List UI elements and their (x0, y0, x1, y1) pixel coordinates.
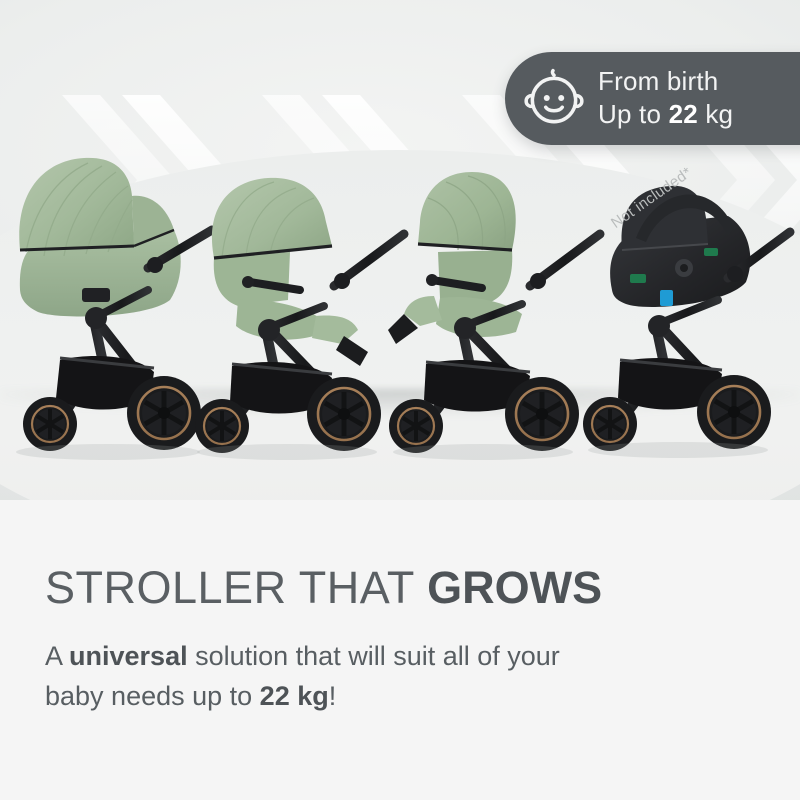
wheel-front (23, 397, 77, 451)
body-part-3: baby needs up to (45, 681, 260, 711)
wheel-rear (307, 377, 381, 451)
badge-line-2: Up to 22 kg (598, 98, 733, 131)
badge-text: From birth Up to 22 kg (598, 65, 733, 133)
page-title: STROLLER THAT GROWS (45, 562, 602, 614)
headline-light: STROLLER THAT (45, 562, 427, 613)
product-carrycot (0, 0, 218, 470)
product-seat-rear-facing (192, 0, 412, 470)
wheel-rear (127, 376, 201, 450)
badge-line-2-suffix: kg (698, 99, 733, 129)
baby-face-icon (521, 66, 587, 132)
wheel-rear (505, 377, 579, 451)
body-copy: A universal solution that will suit all … (45, 636, 725, 716)
wheel-rear (697, 375, 771, 449)
headline-bold: GROWS (427, 562, 602, 613)
from-birth-badge: From birth Up to 22 kg (505, 52, 800, 145)
hero-product-image: Not included* From birth Up to 22 kg (0, 0, 800, 500)
body-bold-universal: universal (69, 641, 188, 671)
badge-line-2-prefix: Up to (598, 99, 669, 129)
product-feature-poster: Not included* From birth Up to 22 kg (0, 0, 800, 800)
copy-section: STROLLER THAT GROWS A universal solution… (0, 500, 800, 800)
wheel-front (195, 399, 249, 453)
badge-line-1: From birth (598, 65, 733, 98)
body-bold-weight: 22 kg (260, 681, 329, 711)
body-part-1: A (45, 641, 69, 671)
wheel-front (583, 397, 637, 451)
badge-weight-value: 22 (669, 99, 698, 129)
wheel-front (389, 399, 443, 453)
body-part-2: solution that will suit all of your (188, 641, 560, 671)
body-part-4: ! (329, 681, 337, 711)
